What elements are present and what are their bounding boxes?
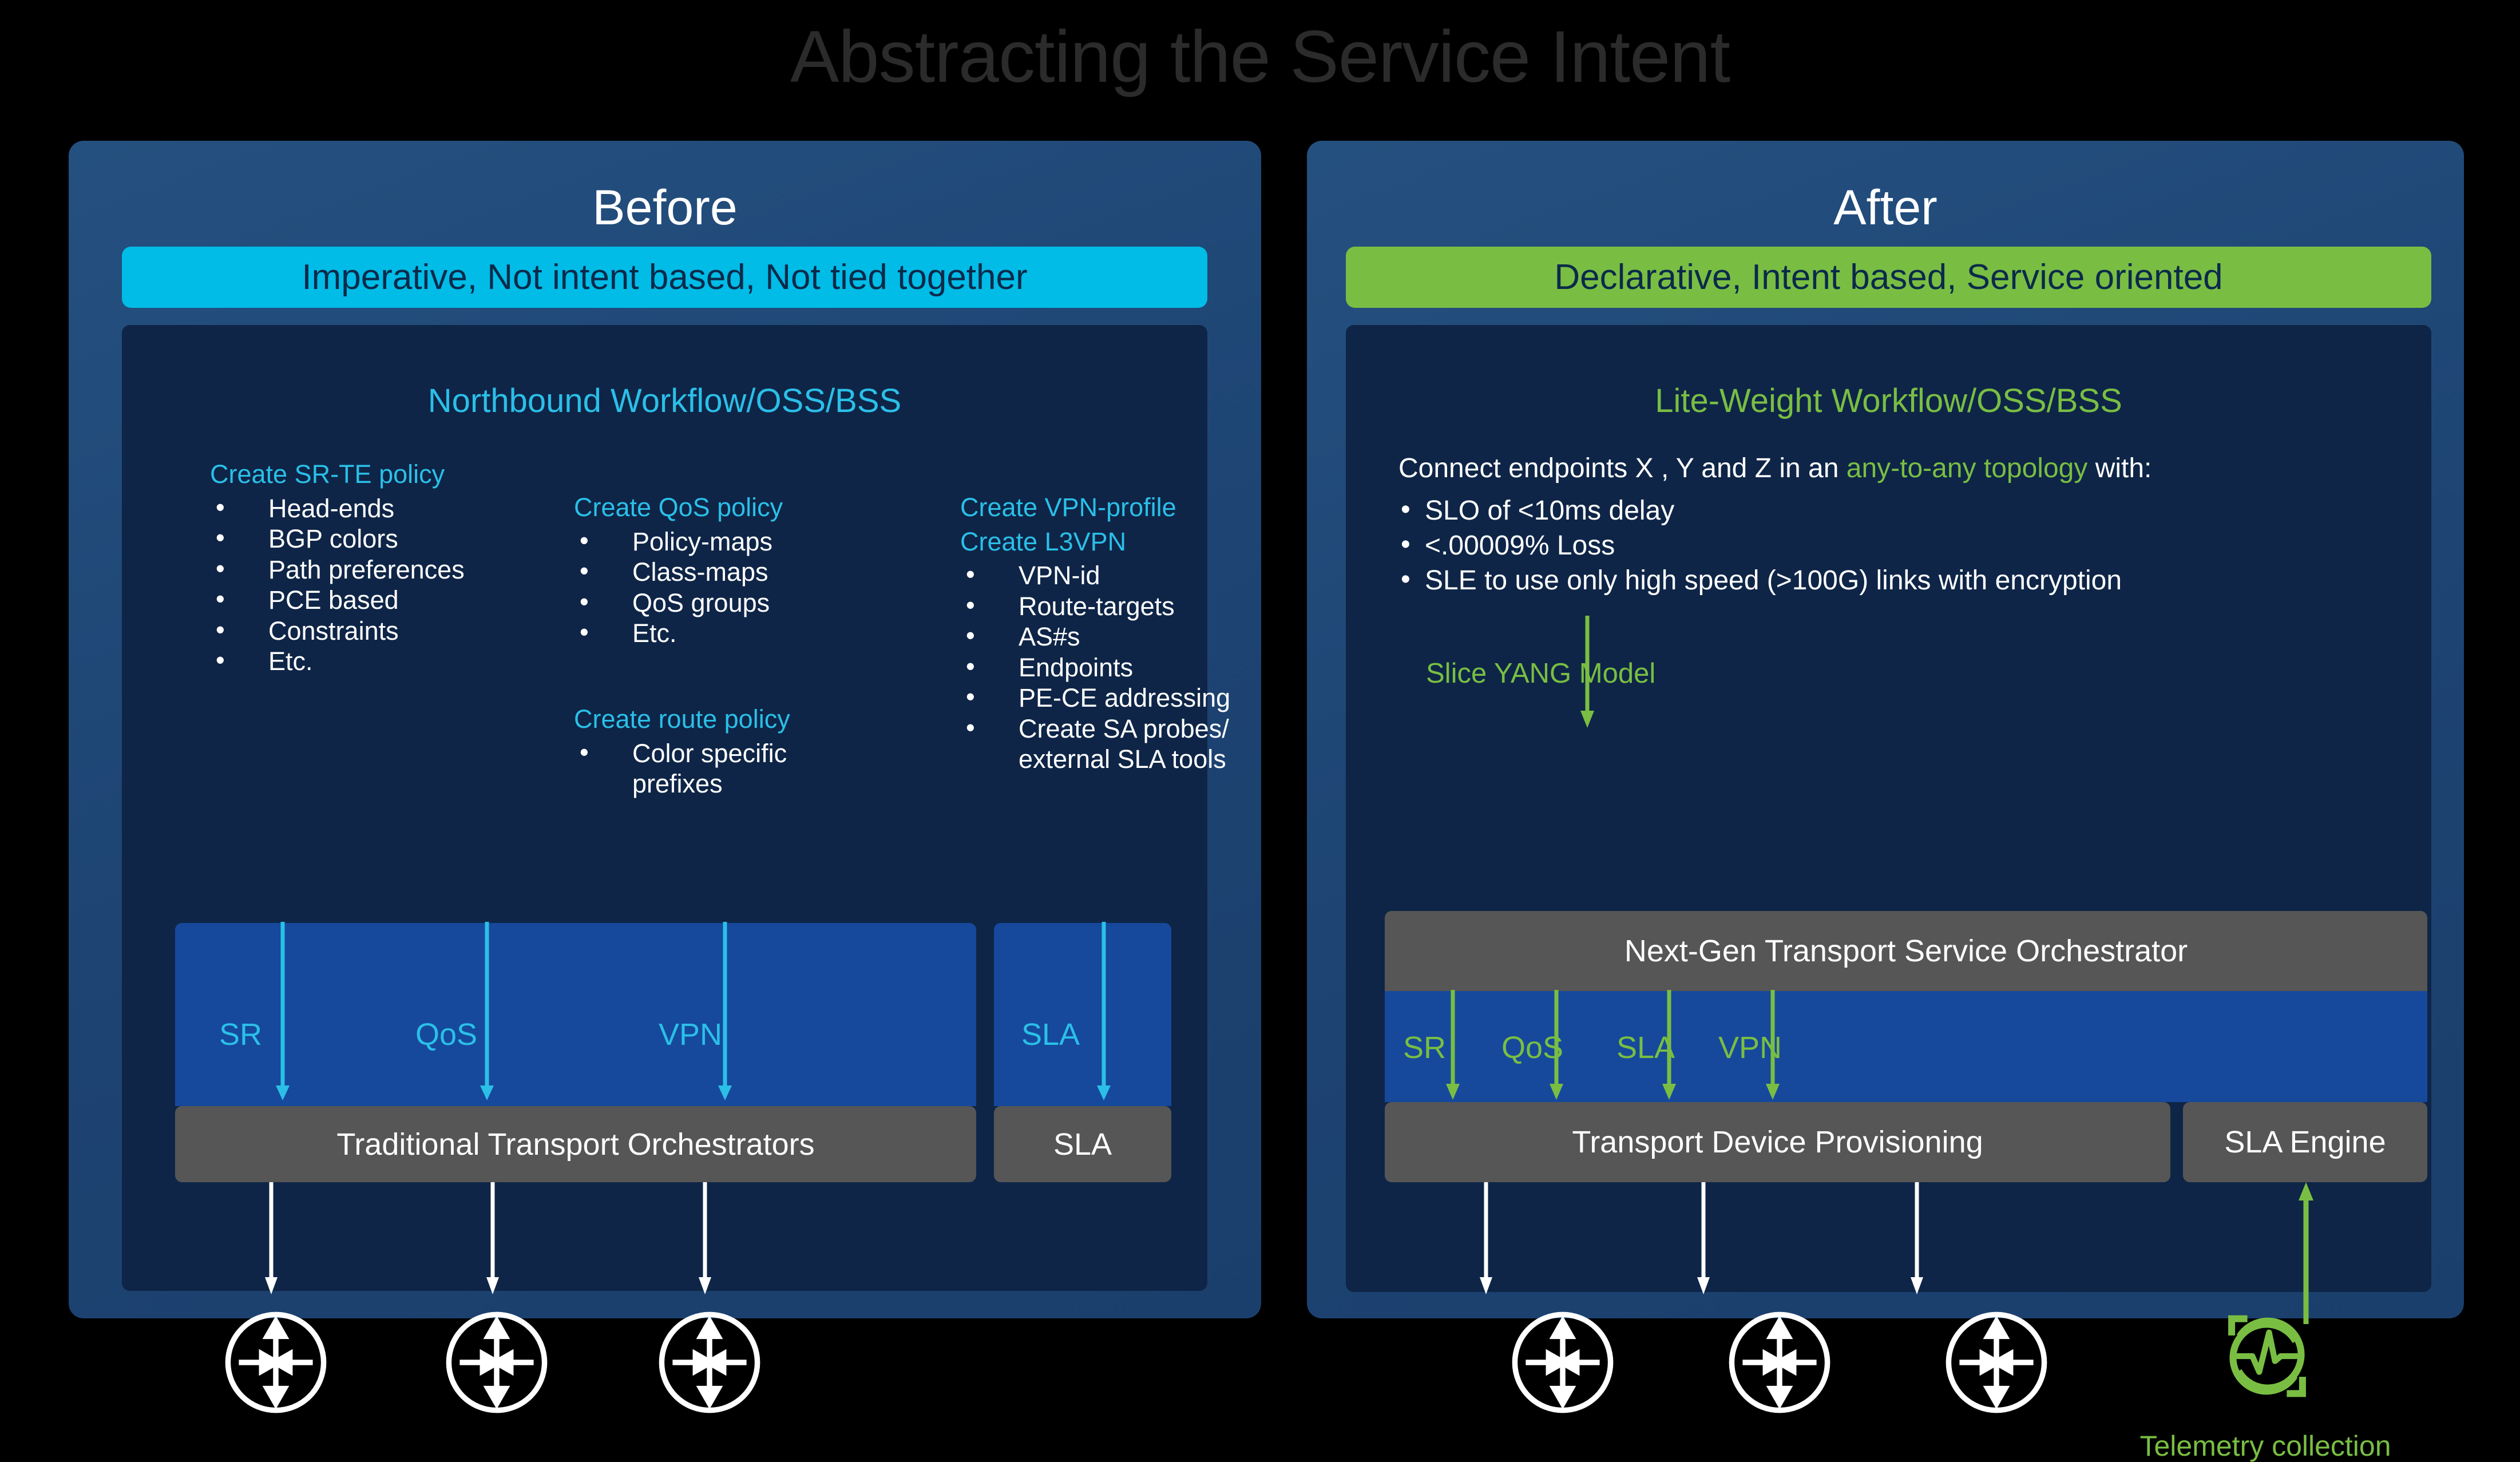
after-panel-title: After <box>1307 183 2464 232</box>
arrow-sla-down <box>1659 990 1679 1102</box>
band-label-sla: SLA <box>1021 1019 1080 1050</box>
arrow-to-router-3 <box>695 1182 715 1297</box>
arrow-to-router-3 <box>1907 1182 1927 1297</box>
arrow-vpn-down <box>1763 990 1782 1102</box>
list-item: PE-CE addressing <box>960 683 1258 714</box>
list-item: SLO of <10ms delay <box>1398 493 2406 528</box>
arrow-telemetry-up <box>2296 1182 2316 1325</box>
slice-yang-model-label: Slice YANG Model <box>1426 660 1655 688</box>
router-icon <box>221 1308 330 1417</box>
req-lead-highlight: any-to-any topology <box>1847 453 2088 484</box>
list-item: Constraints <box>210 616 465 647</box>
arrow-vpn-down <box>715 922 735 1105</box>
list-sr-te: Head-ends BGP colors Path preferences PC… <box>210 493 465 677</box>
list-item: Create SA probes/ external SLA tools <box>960 714 1259 775</box>
after-protocol-band: SR QoS SLA VPN <box>1385 991 2427 1102</box>
band-label-vpn: VPN <box>659 1019 722 1050</box>
column-title-l3vpn: Create L3VPN <box>960 526 1258 557</box>
list-item: Policy-maps <box>574 526 783 557</box>
requirement-lead-line: Connect endpoints X , Y and Z in an any-… <box>1398 452 2406 485</box>
before-panel-title: Before <box>69 183 1261 232</box>
arrow-qos-down <box>477 922 497 1105</box>
before-banner: Imperative, Not intent based, Not tied t… <box>122 247 1207 308</box>
router-icon <box>1508 1308 1617 1417</box>
traditional-transport-orchestrators-box: Traditional Transport Orchestrators <box>175 1106 976 1182</box>
requirements-block: Connect endpoints X , Y and Z in an any-… <box>1398 452 2406 599</box>
list-item: AS#s <box>960 621 1258 652</box>
telemetry-collection-label: Telemetry collection <box>2082 1432 2448 1460</box>
list-item: Etc. <box>210 646 465 677</box>
sla-engine-box: SLA Engine <box>2183 1102 2427 1182</box>
before-inner-panel: Northbound Workflow/OSS/BSS Create SR-TE… <box>122 325 1207 1291</box>
band-label-sr: SR <box>1403 1032 1446 1063</box>
requirements-list: SLO of <10ms delay <.00009% Loss SLE to … <box>1398 493 2406 599</box>
list-item: Route-targets <box>960 591 1258 622</box>
band-label-qos: QoS <box>415 1019 477 1050</box>
req-lead-a: Connect endpoints X , Y and Z in an <box>1398 453 1847 484</box>
after-banner: Declarative, Intent based, Service orien… <box>1346 247 2431 308</box>
column-title-qos: Create QoS policy <box>574 492 783 523</box>
list-item: Head-ends <box>210 493 465 524</box>
column-title-route-policy: Create route policy <box>574 704 821 735</box>
arrow-sr-down <box>1443 990 1463 1102</box>
before-sla-band: SLA <box>994 923 1171 1106</box>
list-qos: Policy-maps Class-maps QoS groups Etc. <box>574 526 783 649</box>
before-panel: Before Imperative, Not intent based, Not… <box>69 141 1261 1318</box>
after-inner-panel: Lite-Weight Workflow/OSS/BSS Connect end… <box>1346 325 2431 1292</box>
lite-weight-workflow-heading: Lite-Weight Workflow/OSS/BSS <box>1346 385 2431 418</box>
column-title-sr-te: Create SR-TE policy <box>210 459 465 490</box>
list-item: QoS groups <box>574 588 783 619</box>
list-item: Endpoints <box>960 652 1258 683</box>
northbound-workflow-heading: Northbound Workflow/OSS/BSS <box>122 385 1207 418</box>
arrow-sla-down <box>1094 922 1114 1105</box>
router-icon <box>1942 1308 2051 1417</box>
next-gen-transport-service-orchestrator-box: Next-Gen Transport Service Orchestrator <box>1385 911 2427 991</box>
router-icon <box>442 1308 551 1417</box>
list-item: Etc. <box>574 618 783 649</box>
telemetry-refresh-pulse-icon <box>2218 1305 2316 1407</box>
list-item: SLE to use only high speed (>100G) links… <box>1398 563 2406 598</box>
band-label-sr: SR <box>219 1019 262 1050</box>
router-icon <box>1725 1308 1834 1417</box>
list-item: Color specific prefixes <box>574 738 821 799</box>
arrow-qos-down <box>1547 990 1566 1102</box>
list-item: Path preferences <box>210 554 465 585</box>
list-vpn: VPN-id Route-targets AS#s Endpoints PE-C… <box>960 560 1258 775</box>
column-vpn: Create VPN-profile Create L3VPN VPN-id R… <box>960 492 1258 775</box>
arrow-to-router-2 <box>483 1182 502 1297</box>
list-route-policy: Color specific prefixes <box>574 738 821 799</box>
page-title: Abstracting the Service Intent <box>0 15 2520 99</box>
list-item: PCE based <box>210 585 465 616</box>
after-panel: After Declarative, Intent based, Service… <box>1307 141 2464 1318</box>
arrow-to-router-1 <box>261 1182 281 1297</box>
before-protocol-band: SR QoS VPN <box>175 923 976 1106</box>
req-lead-b: with: <box>2087 453 2151 484</box>
column-route-policy: Create route policy Color specific prefi… <box>574 704 821 799</box>
list-item: Class-maps <box>574 557 783 588</box>
transport-device-provisioning-box: Transport Device Provisioning <box>1385 1102 2170 1182</box>
list-item: VPN-id <box>960 560 1258 591</box>
arrow-sr-down <box>273 922 292 1105</box>
list-item: <.00009% Loss <box>1398 528 2406 563</box>
arrow-slice-yang-down <box>1578 616 1597 730</box>
column-qos: Create QoS policy Policy-maps Class-maps… <box>574 492 783 649</box>
arrow-to-router-1 <box>1476 1182 1496 1297</box>
column-title-vpn-profile: Create VPN-profile <box>960 492 1258 523</box>
list-item: BGP colors <box>210 524 465 554</box>
router-icon <box>655 1308 764 1417</box>
arrow-to-router-2 <box>1694 1182 1713 1297</box>
column-sr-te: Create SR-TE policy Head-ends BGP colors… <box>210 459 465 677</box>
sla-box: SLA <box>994 1106 1171 1182</box>
